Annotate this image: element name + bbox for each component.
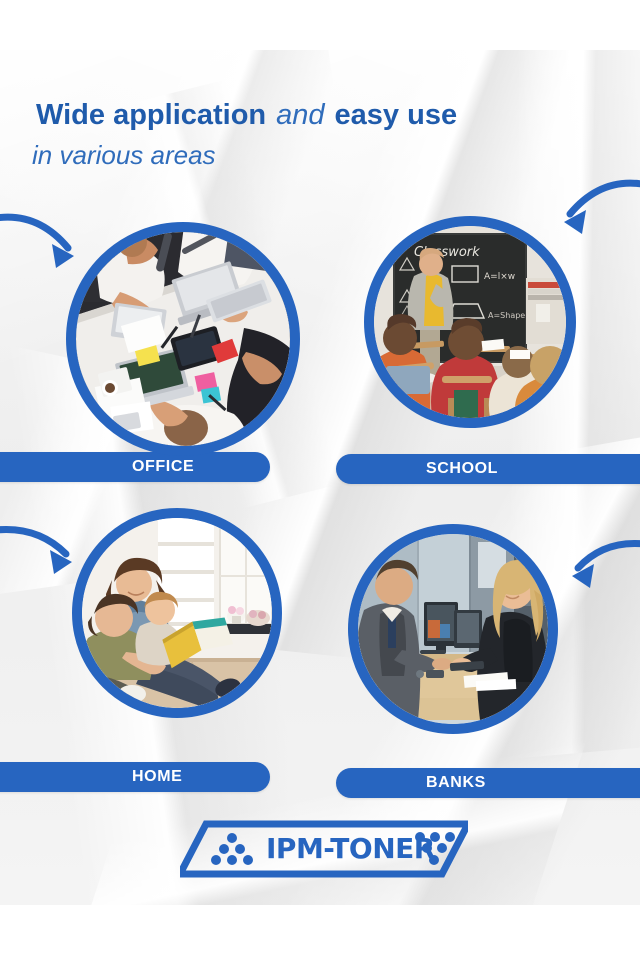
headline-line-2: in various areas bbox=[32, 138, 616, 172]
headline-part-1: Wide application bbox=[36, 99, 266, 131]
curved-arrow-right-icon-office bbox=[0, 206, 98, 291]
headline-part-3: easy use bbox=[335, 99, 458, 131]
headline: Wide applicationandeasy use in various a… bbox=[36, 98, 616, 172]
home-photo bbox=[82, 518, 272, 708]
svg-text:A=l×w: A=l×w bbox=[484, 272, 515, 282]
headline-part-2: and bbox=[276, 99, 324, 131]
poster: Wide applicationandeasy use in various a… bbox=[0, 0, 640, 960]
category-label-home: HOME bbox=[132, 768, 182, 786]
svg-text:A=Shape: A=Shape bbox=[488, 311, 525, 320]
curved-arrow-right-icon-home bbox=[0, 518, 98, 593]
svg-text:IPM-TONER: IPM-TONER bbox=[266, 832, 435, 865]
category-circle-office[interactable] bbox=[66, 222, 300, 456]
banks-photo bbox=[358, 534, 548, 724]
category-label-school: SCHOOL bbox=[426, 460, 498, 478]
category-circle-banks[interactable] bbox=[348, 524, 558, 734]
brand-logo[interactable]: IPM-TONER bbox=[180, 818, 468, 880]
office-photo bbox=[76, 232, 290, 446]
headline-line-1: Wide applicationandeasy use bbox=[36, 98, 616, 132]
category-circle-school[interactable]: Classwork A=l×w A=Shape bbox=[364, 216, 576, 428]
category-label-bar-office[interactable]: OFFICE bbox=[0, 452, 270, 482]
category-label-bar-home[interactable]: HOME bbox=[0, 762, 270, 792]
curved-arrow-left-icon-school bbox=[548, 172, 640, 257]
school-photo: Classwork A=l×w A=Shape bbox=[374, 226, 566, 418]
toner-dots-left bbox=[211, 833, 253, 865]
curved-arrow-left-icon-banks bbox=[556, 532, 640, 607]
category-label-bar-school[interactable]: SCHOOL bbox=[336, 454, 640, 484]
category-label-banks: BANKS bbox=[426, 774, 486, 792]
category-label-office: OFFICE bbox=[132, 458, 194, 476]
category-label-bar-banks[interactable]: BANKS bbox=[336, 768, 640, 798]
category-circle-home[interactable] bbox=[72, 508, 282, 718]
